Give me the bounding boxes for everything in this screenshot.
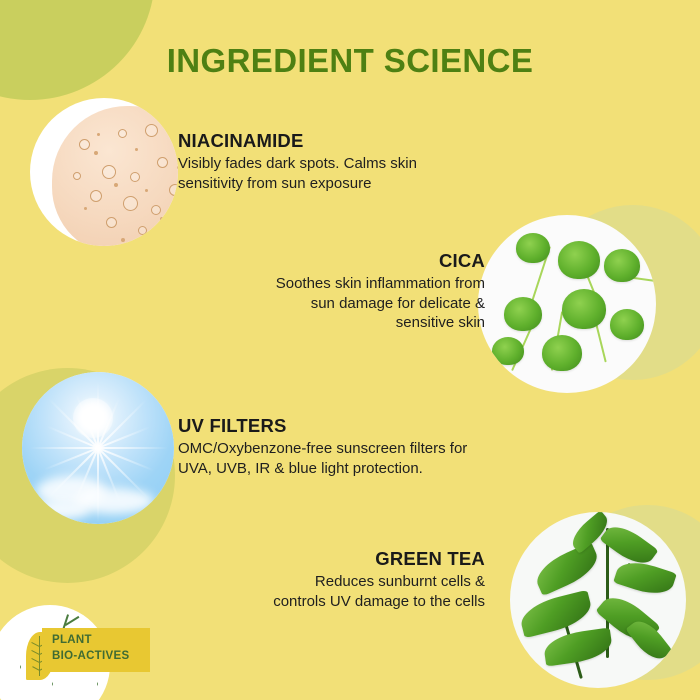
badge-label: PLANT BIO-ACTIVES [52,633,152,664]
green-tea-text-block: GREEN TEA Reduces sunburnt cells & contr… [272,548,485,611]
cica-text-block: CICA Soothes skin inflammation from sun … [250,250,485,333]
badge-label-line1: PLANT [52,633,152,649]
niacinamide-image [30,98,178,246]
uv-filters-description: OMC/Oxybenzone-free sunscreen filters fo… [178,439,478,478]
serum-gel-shape [52,106,178,246]
uv-filters-heading: UV FILTERS [178,415,478,436]
green-tea-description: Reduces sunburnt cells & controls UV dam… [272,572,485,611]
badge-label-line2: BIO-ACTIVES [52,649,152,665]
page-title: INGREDIENT SCIENCE [0,42,700,80]
cica-heading: CICA [250,250,485,271]
plant-bio-actives-badge: PLANT BIO-ACTIVES [8,612,168,692]
cica-description: Soothes skin inflammation from sun damag… [250,274,485,333]
cica-image [478,215,656,393]
niacinamide-description: Visibly fades dark spots. Calms skin sen… [178,154,428,193]
niacinamide-heading: NIACINAMIDE [178,130,428,151]
uv-filters-text-block: UV FILTERS OMC/Oxybenzone-free sunscreen… [178,415,478,478]
uv-filters-image [22,372,174,524]
green-tea-heading: GREEN TEA [272,548,485,569]
infographic-canvas: INGREDIENT SCIENCE [0,0,700,700]
green-tea-image [510,512,686,688]
niacinamide-text-block: NIACINAMIDE Visibly fades dark spots. Ca… [178,130,428,193]
sun-icon [73,398,113,438]
